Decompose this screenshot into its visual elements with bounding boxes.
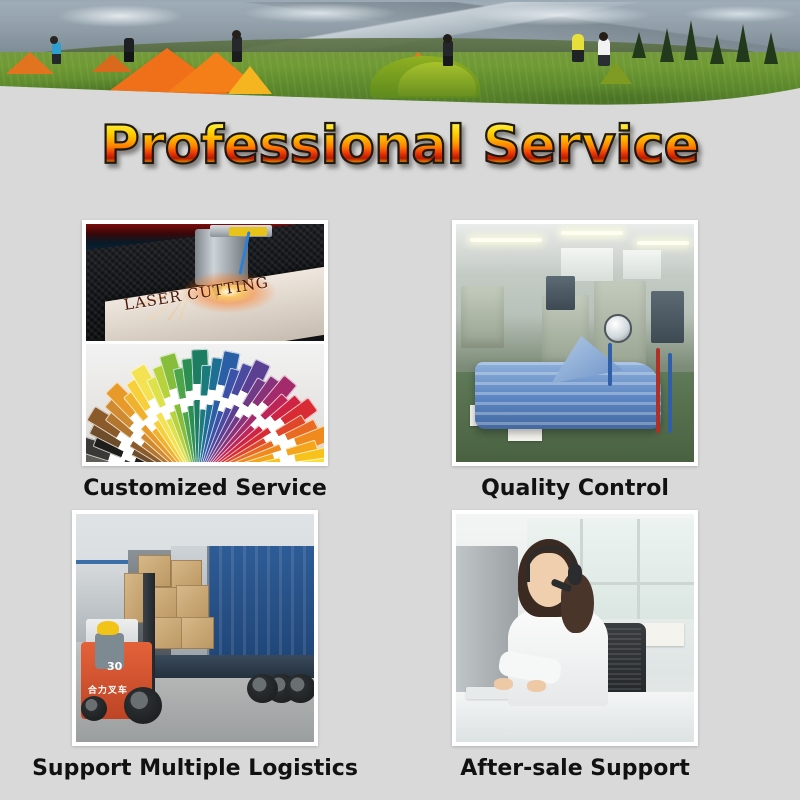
page-title-wrapper: Professional Service [0,118,800,174]
ceiling-light [561,231,623,235]
cardboard-box [181,617,214,649]
ceiling-light [470,238,541,242]
customized-service-image[interactable]: LASER CUTTING [82,220,328,466]
cardboard-box [176,585,209,619]
logistics-image[interactable]: 30 合力叉车 [72,510,318,746]
office-photo [456,514,694,742]
camper-figure [443,34,452,43]
snow-peaks [0,4,800,32]
agent-hand [494,678,513,689]
blue-hose [608,343,612,386]
factory-window [623,250,661,279]
factory-machine [461,286,504,348]
after-sale-support-caption: After-sale Support [434,756,716,781]
factory-machine-dark [546,276,575,309]
pressure-gauge [604,314,633,343]
tent-yellow [228,66,272,94]
pine-tree-icon [764,32,778,64]
pine-tree-icon [736,24,750,62]
factory-machine-dark [651,291,684,343]
quality-control-image[interactable] [452,220,698,466]
factory-photo [456,224,694,462]
safety-helmet-icon [97,621,118,635]
camper-figure [572,34,584,62]
agent-hand [527,680,546,691]
ceiling-light [637,241,689,245]
window-frame [637,519,640,619]
blue-hose [668,353,672,434]
page-title: Professional Service [101,118,700,174]
forklift-brand-text: 合力叉车 [88,683,128,696]
service-card-customized-service[interactable]: LASER CUTTING Customized Service [82,220,328,466]
logistics-caption: Support Multiple Logistics [32,756,358,781]
camper-figure [124,38,134,62]
pine-tree-icon [710,34,724,64]
camper-figure [232,30,241,39]
logistics-photo: 30 合力叉车 [76,514,314,742]
red-hose [656,348,660,434]
camper-figure [50,36,58,44]
service-grid: LASER CUTTING Customized Service [0,212,800,792]
color-swatch-photo [86,344,324,462]
pine-tree-icon [684,20,698,60]
camper-figure [443,40,453,66]
after-sale-support-image[interactable] [452,510,698,746]
camper-figure [599,32,608,41]
headset-earpiece [568,564,582,585]
forklift-wheel [124,687,162,723]
forklift-badge: 30 [107,660,122,673]
laser-cutting-photo: LASER CUTTING [86,224,324,341]
quality-control-caption: Quality Control [452,476,698,501]
customized-service-caption: Customized Service [82,476,328,501]
camper-figure [52,42,61,64]
camper-figure [232,36,242,62]
service-card-quality-control[interactable]: Quality Control [452,220,698,466]
pine-tree-icon [632,32,646,58]
pine-tree-icon [660,28,674,62]
document-stack [642,623,685,646]
professional-service-page: Professional Service LASER CUTTING [0,0,800,800]
banner-image [0,0,800,108]
service-card-support-multiple-logistics[interactable]: 30 合力叉车 Support Multiple Logistics [72,510,318,746]
trailer-wheel [285,674,314,704]
camper-figure [598,38,610,66]
camping-banner [0,0,800,108]
tent-orange [6,52,54,74]
service-card-after-sale-support[interactable]: After-sale Support [452,510,698,746]
